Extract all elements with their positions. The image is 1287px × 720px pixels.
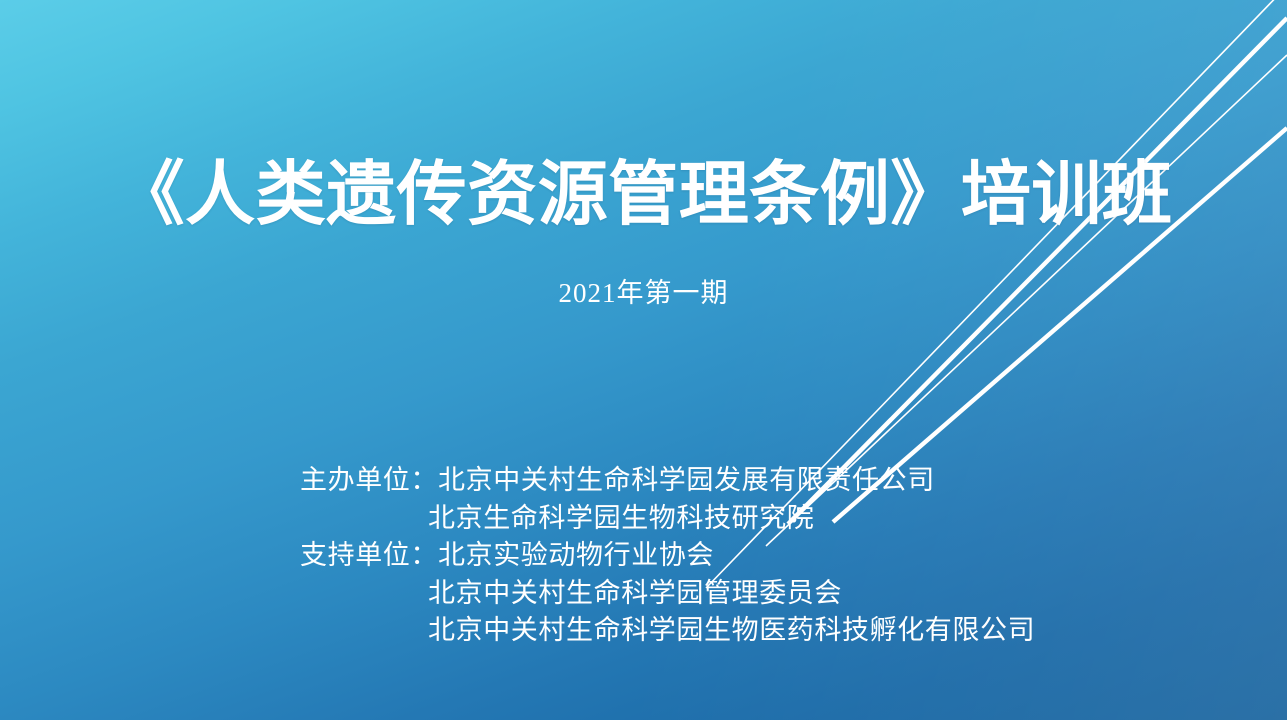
title-slide: 《人类遗传资源管理条例》培训班 2021年第一期 主办单位：北京中关村生命科学园… — [0, 0, 1287, 720]
credit-line: 北京生命科学园生物科技研究院 — [300, 500, 1200, 538]
credit-line: 主办单位：北京中关村生命科学园发展有限责任公司 — [300, 462, 1200, 500]
credit-value: 北京中关村生命科学园发展有限责任公司 — [438, 465, 935, 495]
title-container: 《人类遗传资源管理条例》培训班 — [0, 155, 1287, 233]
credit-label: 支持单位： — [300, 540, 438, 570]
page-title: 《人类遗传资源管理条例》培训班 — [115, 155, 1173, 233]
credit-value: 北京实验动物行业协会 — [438, 540, 714, 570]
credit-line: 北京中关村生命科学园管理委员会 — [300, 575, 1200, 613]
page-subtitle: 2021年第一期 — [559, 277, 729, 309]
credit-line: 支持单位：北京实验动物行业协会 — [300, 537, 1200, 575]
credit-value: 北京生命科学园生物科技研究院 — [428, 503, 814, 533]
credit-value: 北京中关村生命科学园管理委员会 — [428, 578, 842, 608]
subtitle-container: 2021年第一期 — [0, 277, 1287, 309]
credit-label: 主办单位： — [300, 465, 438, 495]
credits-block: 主办单位：北京中关村生命科学园发展有限责任公司 北京生命科学园生物科技研究院 支… — [300, 462, 1200, 650]
credit-value: 北京中关村生命科学园生物医药科技孵化有限公司 — [428, 615, 1035, 645]
credit-line: 北京中关村生命科学园生物医药科技孵化有限公司 — [300, 612, 1200, 650]
